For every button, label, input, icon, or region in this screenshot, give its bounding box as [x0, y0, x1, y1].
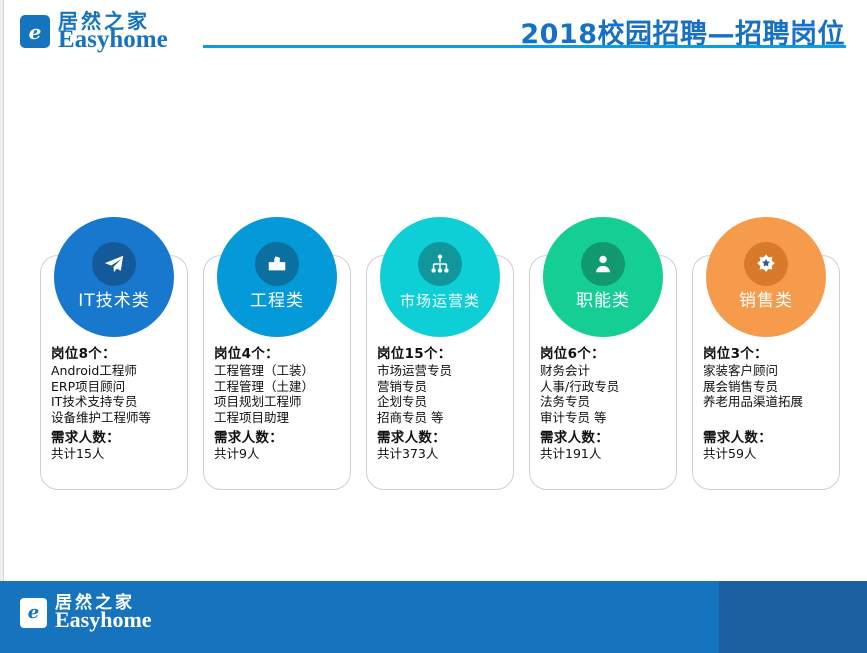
category-card-it[interactable]: IT技术类 岗位8个： Android工程师 ERP项目顾问 IT技术支持专员 … [40, 255, 188, 490]
category-card-engineering[interactable]: 工程类 岗位4个： 工程管理（工装） 工程管理（土建） 项目规划工程师 工程项目… [203, 255, 351, 490]
job-item: 企划专员 [377, 394, 507, 410]
logo-english-name: Easyhome [58, 27, 168, 52]
job-count-label: 岗位8个： [51, 342, 181, 362]
footer-logo-words: 居然之家 Easyhome [55, 595, 152, 631]
job-item: 市场运营专员 [377, 363, 507, 379]
job-item: 工程管理（土建） [214, 379, 344, 395]
card-body: 岗位4个： 工程管理（工装） 工程管理（土建） 项目规划工程师 工程项目助理 需… [214, 342, 344, 462]
job-count-label: 岗位6个： [540, 342, 670, 362]
category-name: 职能类 [576, 286, 630, 337]
job-item: 财务会计 [540, 363, 670, 379]
category-card-list: IT技术类 岗位8个： Android工程师 ERP项目顾问 IT技术支持专员 … [40, 255, 840, 490]
headcount-total: 共计373人 [377, 446, 507, 462]
job-count-label: 岗位15个： [377, 342, 507, 362]
job-item: 工程管理（工装） [214, 363, 344, 379]
headcount-label: 需求人数： [51, 426, 181, 446]
category-card-functional[interactable]: 职能类 岗位6个： 财务会计 人事/行政专员 法务专员 审计专员 等 需求人数：… [529, 255, 677, 490]
job-item: 人事/行政专员 [540, 379, 670, 395]
job-item: ERP项目顾问 [51, 379, 181, 395]
logo-glyph: e [20, 22, 50, 42]
job-item: IT技术支持专员 [51, 394, 181, 410]
job-item: 展会销售专员 [703, 379, 833, 395]
headcount-label: 需求人数： [377, 426, 507, 446]
headcount-total: 共计191人 [540, 446, 670, 462]
paper-plane-icon [92, 242, 136, 286]
headcount-label: 需求人数： [540, 426, 670, 446]
headcount-label: 需求人数： [703, 426, 833, 446]
card-body: 岗位6个： 财务会计 人事/行政专员 法务专员 审计专员 等 需求人数： 共计1… [540, 342, 670, 462]
job-item: 养老用品渠道拓展 [703, 394, 833, 410]
category-name: 销售类 [739, 286, 793, 337]
job-item-spacer [703, 410, 833, 426]
sitemap-icon [418, 242, 462, 286]
badge-star-icon [744, 242, 788, 286]
header-logo-words: 居然之家 Easyhome [58, 11, 168, 52]
easyhome-logo-mark-icon: e [20, 598, 47, 628]
card-body: 岗位15个： 市场运营专员 营销专员 企划专员 招商专员 等 需求人数： 共计3… [377, 342, 507, 462]
headcount-total: 共计59人 [703, 446, 833, 462]
toolbox-icon [255, 242, 299, 286]
slide-header: e 居然之家 Easyhome 2018校园招聘—招聘岗位 [0, 0, 867, 70]
job-item: Android工程师 [51, 363, 181, 379]
card-body: 岗位8个： Android工程师 ERP项目顾问 IT技术支持专员 设备维护工程… [51, 342, 181, 462]
slide-footer: e 居然之家 Easyhome [0, 581, 867, 653]
person-icon [581, 242, 625, 286]
slide-left-edge [0, 0, 4, 653]
logo-english-name: Easyhome [55, 609, 152, 631]
headcount-label: 需求人数： [214, 426, 344, 446]
job-item: 工程项目助理 [214, 410, 344, 426]
category-name: 市场运营类 [400, 290, 480, 337]
category-name: 工程类 [250, 286, 304, 337]
slide: e 居然之家 Easyhome 2018校园招聘—招聘岗位 IT技术类 岗位8个… [0, 0, 867, 653]
job-item: 设备维护工程师等 [51, 410, 181, 426]
job-item: 审计专员 等 [540, 410, 670, 426]
card-body: 岗位3个： 家装客户顾问 展会销售专员 养老用品渠道拓展 需求人数： 共计59人 [703, 342, 833, 462]
header-divider [203, 45, 846, 48]
job-item: 法务专员 [540, 394, 670, 410]
category-card-market-operations[interactable]: 市场运营类 岗位15个： 市场运营专员 营销专员 企划专员 招商专员 等 需求人… [366, 255, 514, 490]
headcount-total: 共计9人 [214, 446, 344, 462]
category-card-sales[interactable]: 销售类 岗位3个： 家装客户顾问 展会销售专员 养老用品渠道拓展 需求人数： 共… [692, 255, 840, 490]
easyhome-logo-mark-icon: e [20, 15, 50, 48]
headcount-total: 共计15人 [51, 446, 181, 462]
job-count-label: 岗位3个： [703, 342, 833, 362]
footer-logo: e 居然之家 Easyhome [20, 595, 845, 631]
job-item: 招商专员 等 [377, 410, 507, 426]
job-item: 营销专员 [377, 379, 507, 395]
category-name: IT技术类 [78, 286, 149, 337]
logo-glyph: e [20, 604, 47, 622]
header-logo: e 居然之家 Easyhome [20, 11, 168, 52]
job-count-label: 岗位4个： [214, 342, 344, 362]
job-item: 项目规划工程师 [214, 394, 344, 410]
job-item: 家装客户顾问 [703, 363, 833, 379]
